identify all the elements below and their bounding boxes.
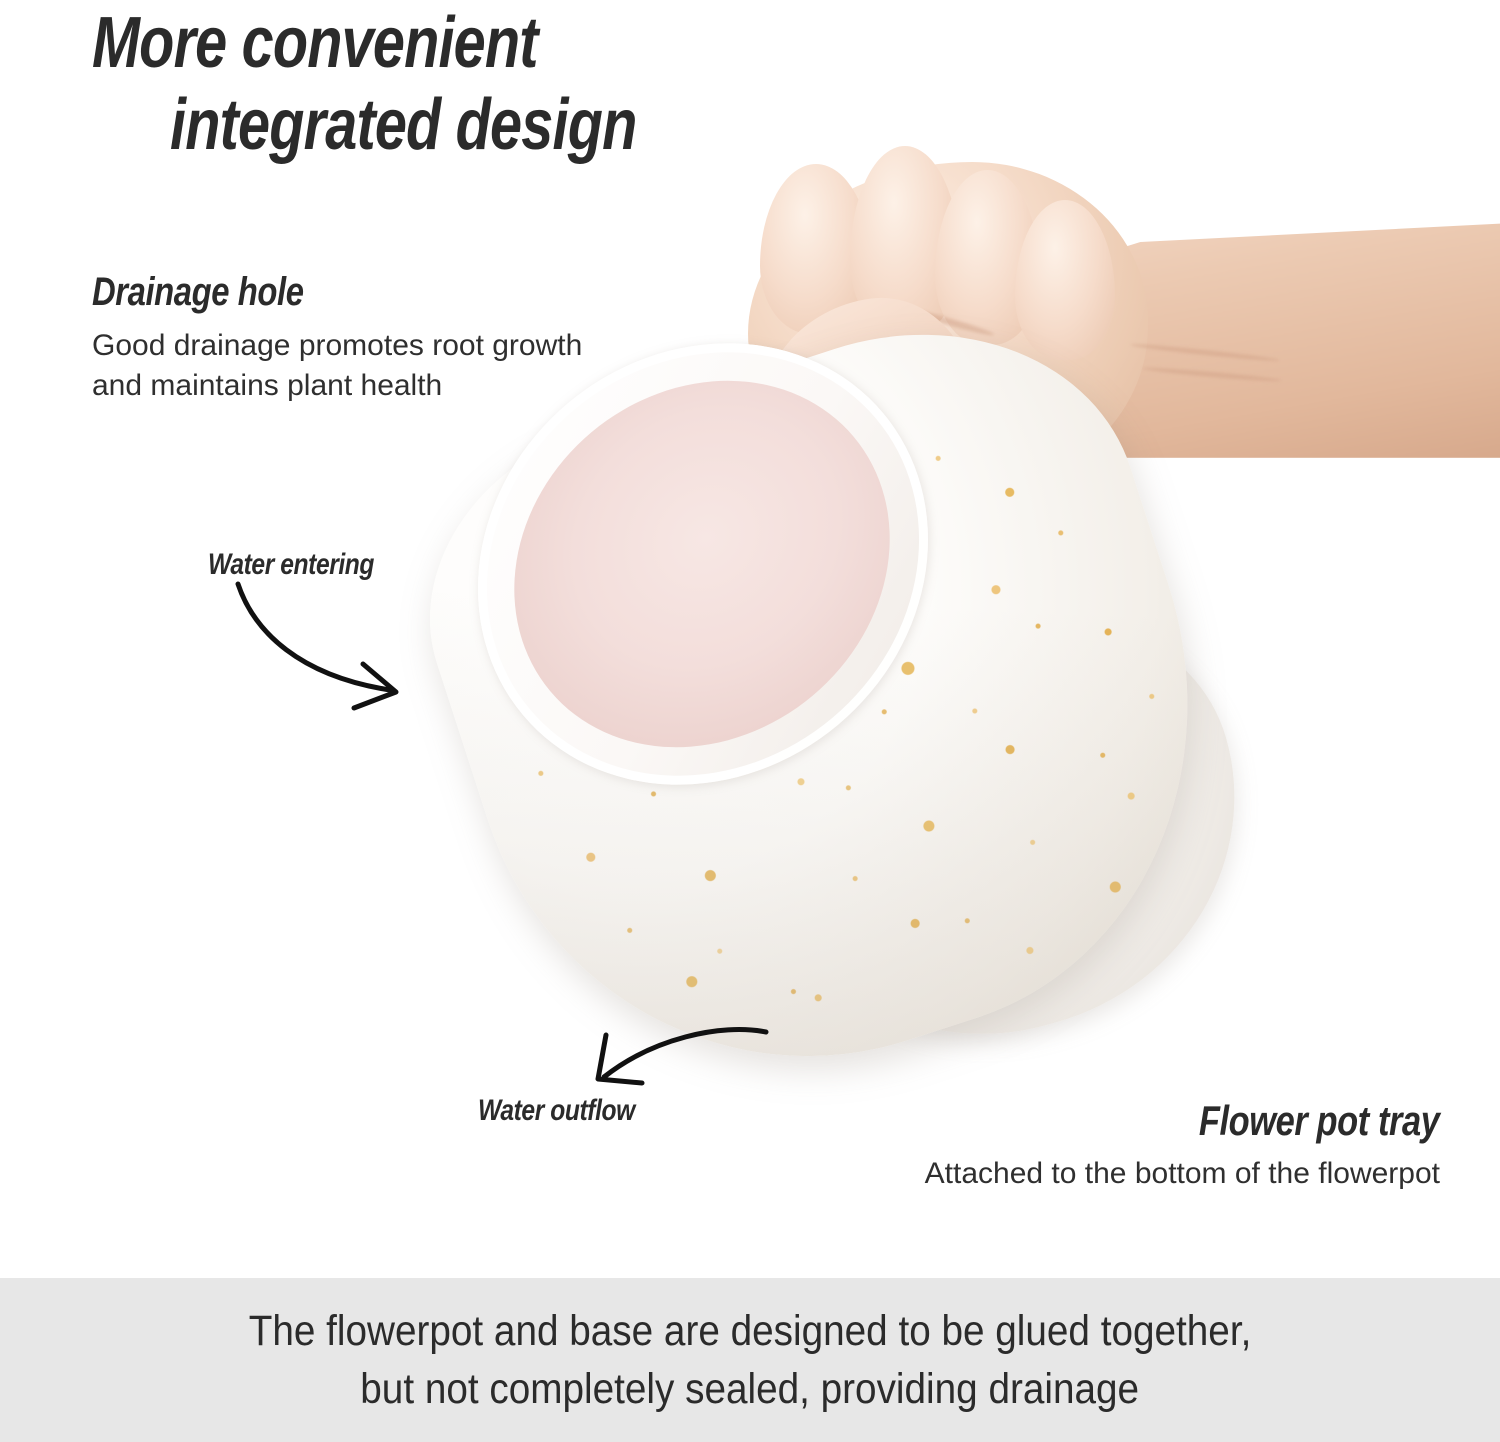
drainage-hole-description: Good drainage promotes root growth and m…	[92, 326, 732, 406]
water-entering-label: Water entering	[208, 547, 374, 583]
drainage-hole-block: Drainage hole Good drainage promotes roo…	[92, 268, 732, 406]
product-photo	[430, 110, 1500, 1090]
drainage-desc-line-1: Good drainage promotes root growth	[92, 326, 732, 366]
caption-line-2: but not completely sealed, providing dra…	[361, 1360, 1140, 1418]
product-infographic: More convenient integrated design Draina…	[0, 0, 1500, 1442]
flower-pot-tray-heading: Flower pot tray	[1199, 1096, 1440, 1146]
page-title-line-1: More convenient	[92, 2, 621, 84]
flower-pot-tray-block: Flower pot tray Attached to the bottom o…	[925, 1096, 1440, 1194]
flower-pot-tray-description: Attached to the bottom of the flowerpot	[925, 1154, 1440, 1194]
caption-line-1: The flowerpot and base are designed to b…	[249, 1302, 1252, 1360]
drainage-hole-heading: Drainage hole	[92, 268, 617, 316]
curved-arrow-down-right-icon	[230, 580, 420, 720]
water-outflow-label: Water outflow	[478, 1093, 635, 1129]
caption-bar: The flowerpot and base are designed to b…	[0, 1278, 1500, 1442]
curved-arrow-down-left-icon	[580, 1015, 780, 1095]
drainage-desc-line-2: and maintains plant health	[92, 366, 732, 406]
